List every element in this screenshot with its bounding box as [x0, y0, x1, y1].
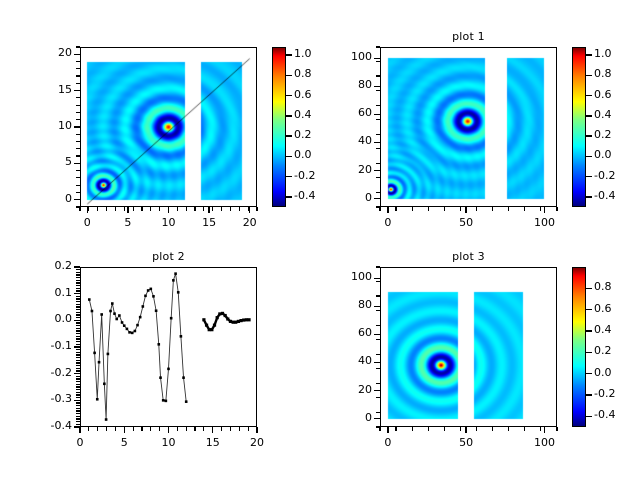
- x-minor-tick: [412, 207, 413, 211]
- colorbar-tick: [586, 135, 592, 136]
- colorbar-tick-label: 0.8: [594, 280, 612, 293]
- x-minor-tick: [508, 207, 509, 211]
- x-minor-tick: [460, 427, 461, 431]
- x-tick-label: 15: [188, 436, 238, 449]
- data-point-marker: [111, 302, 114, 305]
- colorbar-tick-label: 0.8: [594, 67, 612, 80]
- data-point-marker: [167, 368, 170, 371]
- line-series-container: [80, 267, 257, 427]
- x-minor-tick: [444, 427, 445, 431]
- x-minor-tick: [106, 207, 107, 211]
- colorbar-tick-label: 0.8: [294, 67, 312, 80]
- y-tick-label: 0.2: [26, 259, 72, 272]
- colorbar-tick-label: 0.6: [594, 302, 612, 315]
- x-major-tick: [249, 207, 250, 213]
- x-minor-tick: [556, 207, 557, 211]
- data-point-marker: [172, 279, 175, 282]
- colorbar-tick: [586, 416, 592, 417]
- colorbar-tick-label: -0.4: [294, 189, 315, 202]
- y-tick-label: 0: [326, 411, 372, 424]
- x-minor-tick: [115, 427, 116, 431]
- data-point-marker: [205, 324, 208, 327]
- x-minor-tick: [379, 207, 380, 211]
- x-minor-tick: [221, 427, 222, 431]
- x-major-tick: [544, 427, 545, 433]
- colorbar-tick-label: 1.0: [594, 47, 612, 60]
- data-point-marker: [103, 383, 106, 386]
- colorbar-tick-label: -0.2: [294, 169, 315, 182]
- pcolor-image-top-left: [80, 47, 257, 207]
- x-major-tick: [387, 427, 388, 433]
- colorbar-tick-label: 1.0: [294, 47, 312, 60]
- colorbar-tick-label: 0.4: [594, 323, 612, 336]
- x-minor-tick: [133, 427, 134, 431]
- colorbar-tick: [586, 394, 592, 395]
- data-point-marker: [155, 309, 158, 312]
- x-minor-tick: [97, 427, 98, 431]
- colorbar-tick: [586, 352, 592, 353]
- x-minor-tick: [412, 427, 413, 431]
- data-point-marker: [100, 313, 103, 316]
- colorbar-tick-label: 0.0: [294, 148, 312, 161]
- y-tick-label: 80: [326, 298, 372, 311]
- x-minor-tick: [248, 207, 249, 211]
- colorbar-tick: [586, 75, 592, 76]
- x-tick-label: 20: [225, 216, 275, 229]
- data-point-marker: [224, 314, 227, 317]
- colorbar-tick-label: -0.4: [594, 408, 615, 421]
- colorbar-tick: [286, 196, 292, 197]
- x-minor-tick: [203, 427, 204, 431]
- x-minor-tick: [476, 207, 477, 211]
- colorbar-tick-label: 0.4: [594, 108, 612, 121]
- x-minor-tick: [379, 427, 380, 431]
- x-tick-label: 20: [232, 436, 282, 449]
- colorbar-tick: [586, 95, 592, 96]
- colorbar-tick: [586, 309, 592, 310]
- data-point-marker: [88, 298, 91, 301]
- x-minor-tick: [230, 207, 231, 211]
- subplot-title-bottom-right: plot 3: [380, 250, 557, 263]
- x-minor-tick: [444, 207, 445, 211]
- y-tick-label: 20: [326, 383, 372, 396]
- data-point-marker: [152, 295, 155, 298]
- data-point-marker: [136, 324, 139, 327]
- y-tick-label: 40: [326, 354, 372, 367]
- line-chart-svg: [80, 267, 257, 427]
- data-point-marker: [107, 353, 110, 356]
- x-minor-tick: [159, 207, 160, 211]
- y-tick-label: 0.1: [26, 286, 72, 299]
- colorbar-tick: [586, 330, 592, 331]
- x-minor-tick: [133, 207, 134, 211]
- colorbar-tick-label: -0.4: [594, 189, 615, 202]
- x-minor-tick: [476, 427, 477, 431]
- x-minor-tick: [141, 207, 142, 211]
- data-point-marker: [174, 272, 177, 275]
- data-point-marker: [96, 398, 99, 401]
- x-minor-tick: [141, 427, 142, 431]
- subplot-top-left: 0510152005101520 -0.4-0.20.00.20.40.60.8…: [0, 0, 320, 240]
- y-tick-label: 100: [326, 50, 372, 63]
- data-point-marker: [182, 376, 185, 379]
- x-minor-tick: [124, 207, 125, 211]
- y-tick-label: 0.0: [26, 312, 72, 325]
- data-point-marker: [131, 332, 134, 335]
- data-point-marker: [105, 418, 108, 421]
- x-minor-tick: [150, 207, 151, 211]
- y-tick-label: 80: [326, 78, 372, 91]
- data-point-marker: [165, 400, 168, 403]
- x-major-tick: [465, 207, 466, 213]
- data-point-marker: [185, 400, 188, 403]
- colorbar-tick: [586, 176, 592, 177]
- colorbar-tick-label: 0.2: [294, 128, 312, 141]
- x-minor-tick: [177, 207, 178, 211]
- colorbar-tick: [286, 176, 292, 177]
- y-tick-label: 20: [326, 163, 372, 176]
- x-minor-tick: [428, 427, 429, 431]
- subplot-bottom-left: plot 2 -0.4-0.3-0.2-0.10.00.10.205101520: [0, 240, 320, 480]
- y-tick-label: 100: [326, 270, 372, 283]
- colorbar-tick-label: 0.2: [594, 128, 612, 141]
- data-point-marker: [157, 343, 160, 346]
- data-point-marker: [202, 318, 205, 321]
- x-minor-tick: [239, 207, 240, 211]
- x-minor-tick: [428, 207, 429, 211]
- x-minor-tick: [106, 427, 107, 431]
- colorbar-tick: [286, 54, 292, 55]
- x-tick-label: 10: [144, 436, 194, 449]
- x-minor-tick: [239, 427, 240, 431]
- x-tick-label: 100: [519, 436, 569, 449]
- x-major-tick: [544, 207, 545, 213]
- colorbar-tick-label: 0.0: [594, 148, 612, 161]
- x-minor-tick: [524, 427, 525, 431]
- colorbar-tick: [586, 156, 592, 157]
- x-minor-tick: [194, 427, 195, 431]
- data-point-marker: [159, 376, 162, 379]
- pcolor-image-bottom-right: [380, 267, 557, 427]
- x-minor-tick: [256, 427, 257, 431]
- line-path-segment-1: [89, 274, 186, 420]
- data-point-marker: [170, 317, 173, 320]
- x-minor-tick: [524, 207, 525, 211]
- x-minor-tick: [230, 427, 231, 431]
- subplot-title-bottom-left: plot 2: [80, 250, 257, 263]
- x-minor-tick: [79, 207, 80, 211]
- colorbar-tick: [586, 196, 592, 197]
- y-tick-label: 0: [26, 192, 72, 205]
- x-minor-tick: [79, 427, 80, 431]
- figure-canvas: 0510152005101520 -0.4-0.20.00.20.40.60.8…: [0, 0, 640, 480]
- data-point-marker: [177, 291, 180, 294]
- x-major-tick: [208, 207, 209, 213]
- data-point-marker: [139, 316, 142, 319]
- data-point-marker: [180, 335, 183, 338]
- x-minor-tick: [212, 207, 213, 211]
- data-point-marker: [93, 352, 96, 355]
- y-tick-label: 60: [326, 106, 372, 119]
- data-point-marker: [162, 399, 165, 402]
- y-tick-label: 5: [26, 155, 72, 168]
- colorbar-tick: [586, 373, 592, 374]
- y-tick-label: -0.2: [26, 366, 72, 379]
- x-minor-tick: [256, 207, 257, 211]
- data-point-marker: [123, 324, 126, 327]
- x-tick-label: 0: [363, 436, 413, 449]
- x-minor-tick: [115, 207, 116, 211]
- x-minor-tick: [248, 427, 249, 431]
- y-tick-label: 0: [326, 191, 372, 204]
- data-point-marker: [118, 314, 121, 317]
- data-point-marker: [115, 318, 118, 321]
- x-major-tick: [387, 207, 388, 213]
- colorbar-tick: [286, 135, 292, 136]
- x-minor-tick: [159, 427, 160, 431]
- x-tick-label: 100: [519, 216, 569, 229]
- y-tick-label: 15: [26, 83, 72, 96]
- data-point-marker: [210, 328, 213, 331]
- x-tick-label: 50: [441, 436, 491, 449]
- x-tick-label: 5: [99, 436, 149, 449]
- colorbar-tick-label: 0.0: [594, 366, 612, 379]
- data-point-marker: [134, 330, 137, 333]
- x-major-tick: [465, 427, 466, 433]
- x-minor-tick: [395, 427, 396, 431]
- pcolor-image-top-right: [380, 47, 557, 207]
- data-point-marker: [142, 305, 145, 308]
- x-minor-tick: [492, 207, 493, 211]
- x-minor-tick: [212, 427, 213, 431]
- x-tick-label: 0: [363, 216, 413, 229]
- x-minor-tick: [508, 427, 509, 431]
- x-minor-tick: [460, 207, 461, 211]
- x-tick-label: 50: [441, 216, 491, 229]
- x-minor-tick: [97, 207, 98, 211]
- data-point-marker: [216, 316, 219, 319]
- x-minor-tick: [221, 207, 222, 211]
- x-major-tick: [127, 207, 128, 213]
- data-point-marker: [247, 318, 250, 321]
- data-point-marker: [113, 312, 116, 315]
- data-point-marker: [109, 310, 112, 313]
- colorbar-tick: [586, 115, 592, 116]
- colorbar-tick-label: -0.2: [594, 387, 615, 400]
- subplot-bottom-right: plot 3 020406080100050100 -0.4-0.20.00.2…: [320, 240, 640, 480]
- y-tick-label: 10: [26, 119, 72, 132]
- y-tick-label: -0.1: [26, 339, 72, 352]
- colorbar-tick-label: 0.4: [294, 108, 312, 121]
- y-tick-label: -0.4: [26, 419, 72, 432]
- x-minor-tick: [194, 207, 195, 211]
- data-point-marker: [126, 328, 129, 331]
- y-tick-label: 40: [326, 134, 372, 147]
- x-minor-tick: [124, 427, 125, 431]
- x-minor-tick: [177, 427, 178, 431]
- colorbar-tick: [286, 95, 292, 96]
- data-point-marker: [91, 310, 94, 313]
- x-minor-tick: [150, 427, 151, 431]
- colorbar-top-right: [572, 47, 586, 207]
- x-minor-tick: [540, 207, 541, 211]
- y-tick-label: -0.3: [26, 392, 72, 405]
- x-minor-tick: [186, 427, 187, 431]
- x-minor-tick: [168, 427, 169, 431]
- subplot-top-right: plot 1 020406080100050100 -0.4-0.20.00.2…: [320, 0, 640, 240]
- x-minor-tick: [168, 207, 169, 211]
- data-point-marker: [121, 321, 124, 324]
- x-minor-tick: [556, 427, 557, 431]
- colorbar-top-left: [272, 47, 286, 207]
- data-point-marker: [147, 289, 150, 292]
- colorbar-tick: [286, 115, 292, 116]
- y-tick-label: 20: [26, 46, 72, 59]
- colorbar-tick: [286, 156, 292, 157]
- y-tick-label: 60: [326, 326, 372, 339]
- colorbar-tick: [586, 54, 592, 55]
- colorbar-bottom-right: [572, 267, 586, 427]
- colorbar-tick-label: 0.6: [594, 88, 612, 101]
- data-point-marker: [144, 295, 147, 298]
- colorbar-tick: [586, 288, 592, 289]
- x-minor-tick: [395, 207, 396, 211]
- colorbar-tick-label: -0.2: [594, 169, 615, 182]
- x-tick-label: 0: [55, 436, 105, 449]
- data-point-marker: [213, 324, 216, 327]
- subplot-title-top-right: plot 1: [380, 30, 557, 43]
- colorbar-tick-label: 0.2: [594, 344, 612, 357]
- x-minor-tick: [540, 427, 541, 431]
- data-point-marker: [128, 331, 131, 334]
- x-minor-tick: [203, 207, 204, 211]
- x-minor-tick: [186, 207, 187, 211]
- colorbar-tick-label: 0.6: [294, 88, 312, 101]
- x-minor-tick: [88, 207, 89, 211]
- x-minor-tick: [492, 427, 493, 431]
- data-point-marker: [98, 361, 101, 364]
- x-minor-tick: [88, 427, 89, 431]
- colorbar-tick: [286, 75, 292, 76]
- data-point-marker: [150, 288, 153, 291]
